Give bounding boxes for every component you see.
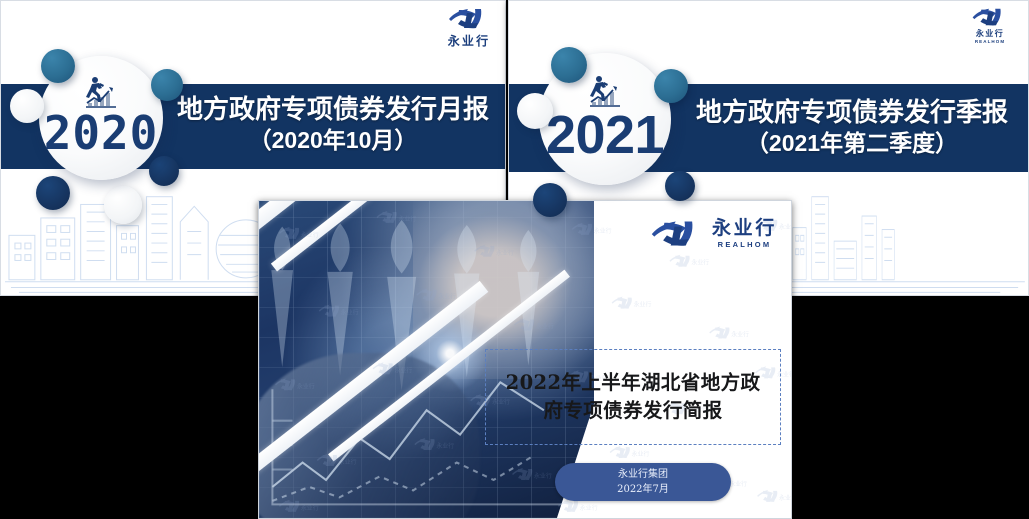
screenshot-stage: 永业行 2: [0, 0, 1029, 519]
slide-title-line2: （2020年10月）: [173, 126, 493, 154]
slide-title: 地方政府专项债券发行月报 （2020年10月）: [173, 94, 493, 154]
brand-logo: 永业行: [447, 7, 491, 49]
brand-logo-en: REALHOM: [718, 241, 772, 249]
decor-dot-teal-right: [654, 69, 688, 103]
slide-title-line1: 地方政府专项债券发行季报: [687, 97, 1017, 129]
decor-dot-navy-right: [665, 171, 695, 201]
decor-dot-navy-bottom: [533, 183, 567, 217]
cover-title-line1: 2022年上半年湖北省地方政: [506, 369, 761, 397]
decor-dot-white-bottom: [104, 186, 142, 224]
brand-logo: 永业行 REALHOM: [970, 7, 1010, 44]
publisher-name: 永业行集团: [618, 467, 668, 482]
brand-logo-cn: 永业行: [448, 32, 490, 49]
runner-on-growth-chart-icon: [584, 75, 626, 109]
year-label: 2021: [546, 110, 664, 161]
publish-date: 2022年7月: [617, 482, 669, 497]
cover-title-line2: 府专项债券发行简报: [506, 397, 761, 425]
yh-monogram-icon: [447, 7, 491, 30]
slide-title-line1: 地方政府专项债券发行月报: [173, 94, 493, 126]
cover-title-box: 2022年上半年湖北省地方政 府专项债券发行简报: [485, 349, 781, 445]
slide-2022[interactable]: 永业行: [258, 200, 792, 519]
decor-dot-navy-bottom: [36, 176, 70, 210]
year-label: 2020: [44, 112, 158, 156]
decor-dot-navy-right: [149, 156, 179, 186]
slide-title: 地方政府专项债券发行季报 （2021年第二季度）: [687, 97, 1017, 157]
brand-logo-en: REALHOM: [975, 39, 1005, 44]
yh-monogram-icon: [649, 219, 705, 248]
publisher-badge[interactable]: 永业行集团 2022年7月: [555, 463, 731, 501]
brand-logo-cn: 永业行: [976, 28, 1004, 39]
decor-dot-teal-top: [551, 47, 587, 83]
decor-dot-teal-right: [151, 69, 183, 101]
decor-dot-white-left: [10, 89, 44, 123]
runner-on-growth-chart-icon: [80, 76, 122, 110]
decor-dot-teal-top: [41, 49, 75, 83]
brand-logo: 永业行 REALHOM: [649, 219, 777, 249]
slide-title-line2: （2021年第二季度）: [687, 129, 1017, 157]
yh-monogram-icon: [970, 7, 1010, 27]
brand-logo-cn: 永业行: [712, 219, 777, 238]
decor-dot-white-left: [517, 93, 553, 129]
cover-title: 2022年上半年湖北省地方政 府专项债券发行简报: [506, 369, 761, 424]
